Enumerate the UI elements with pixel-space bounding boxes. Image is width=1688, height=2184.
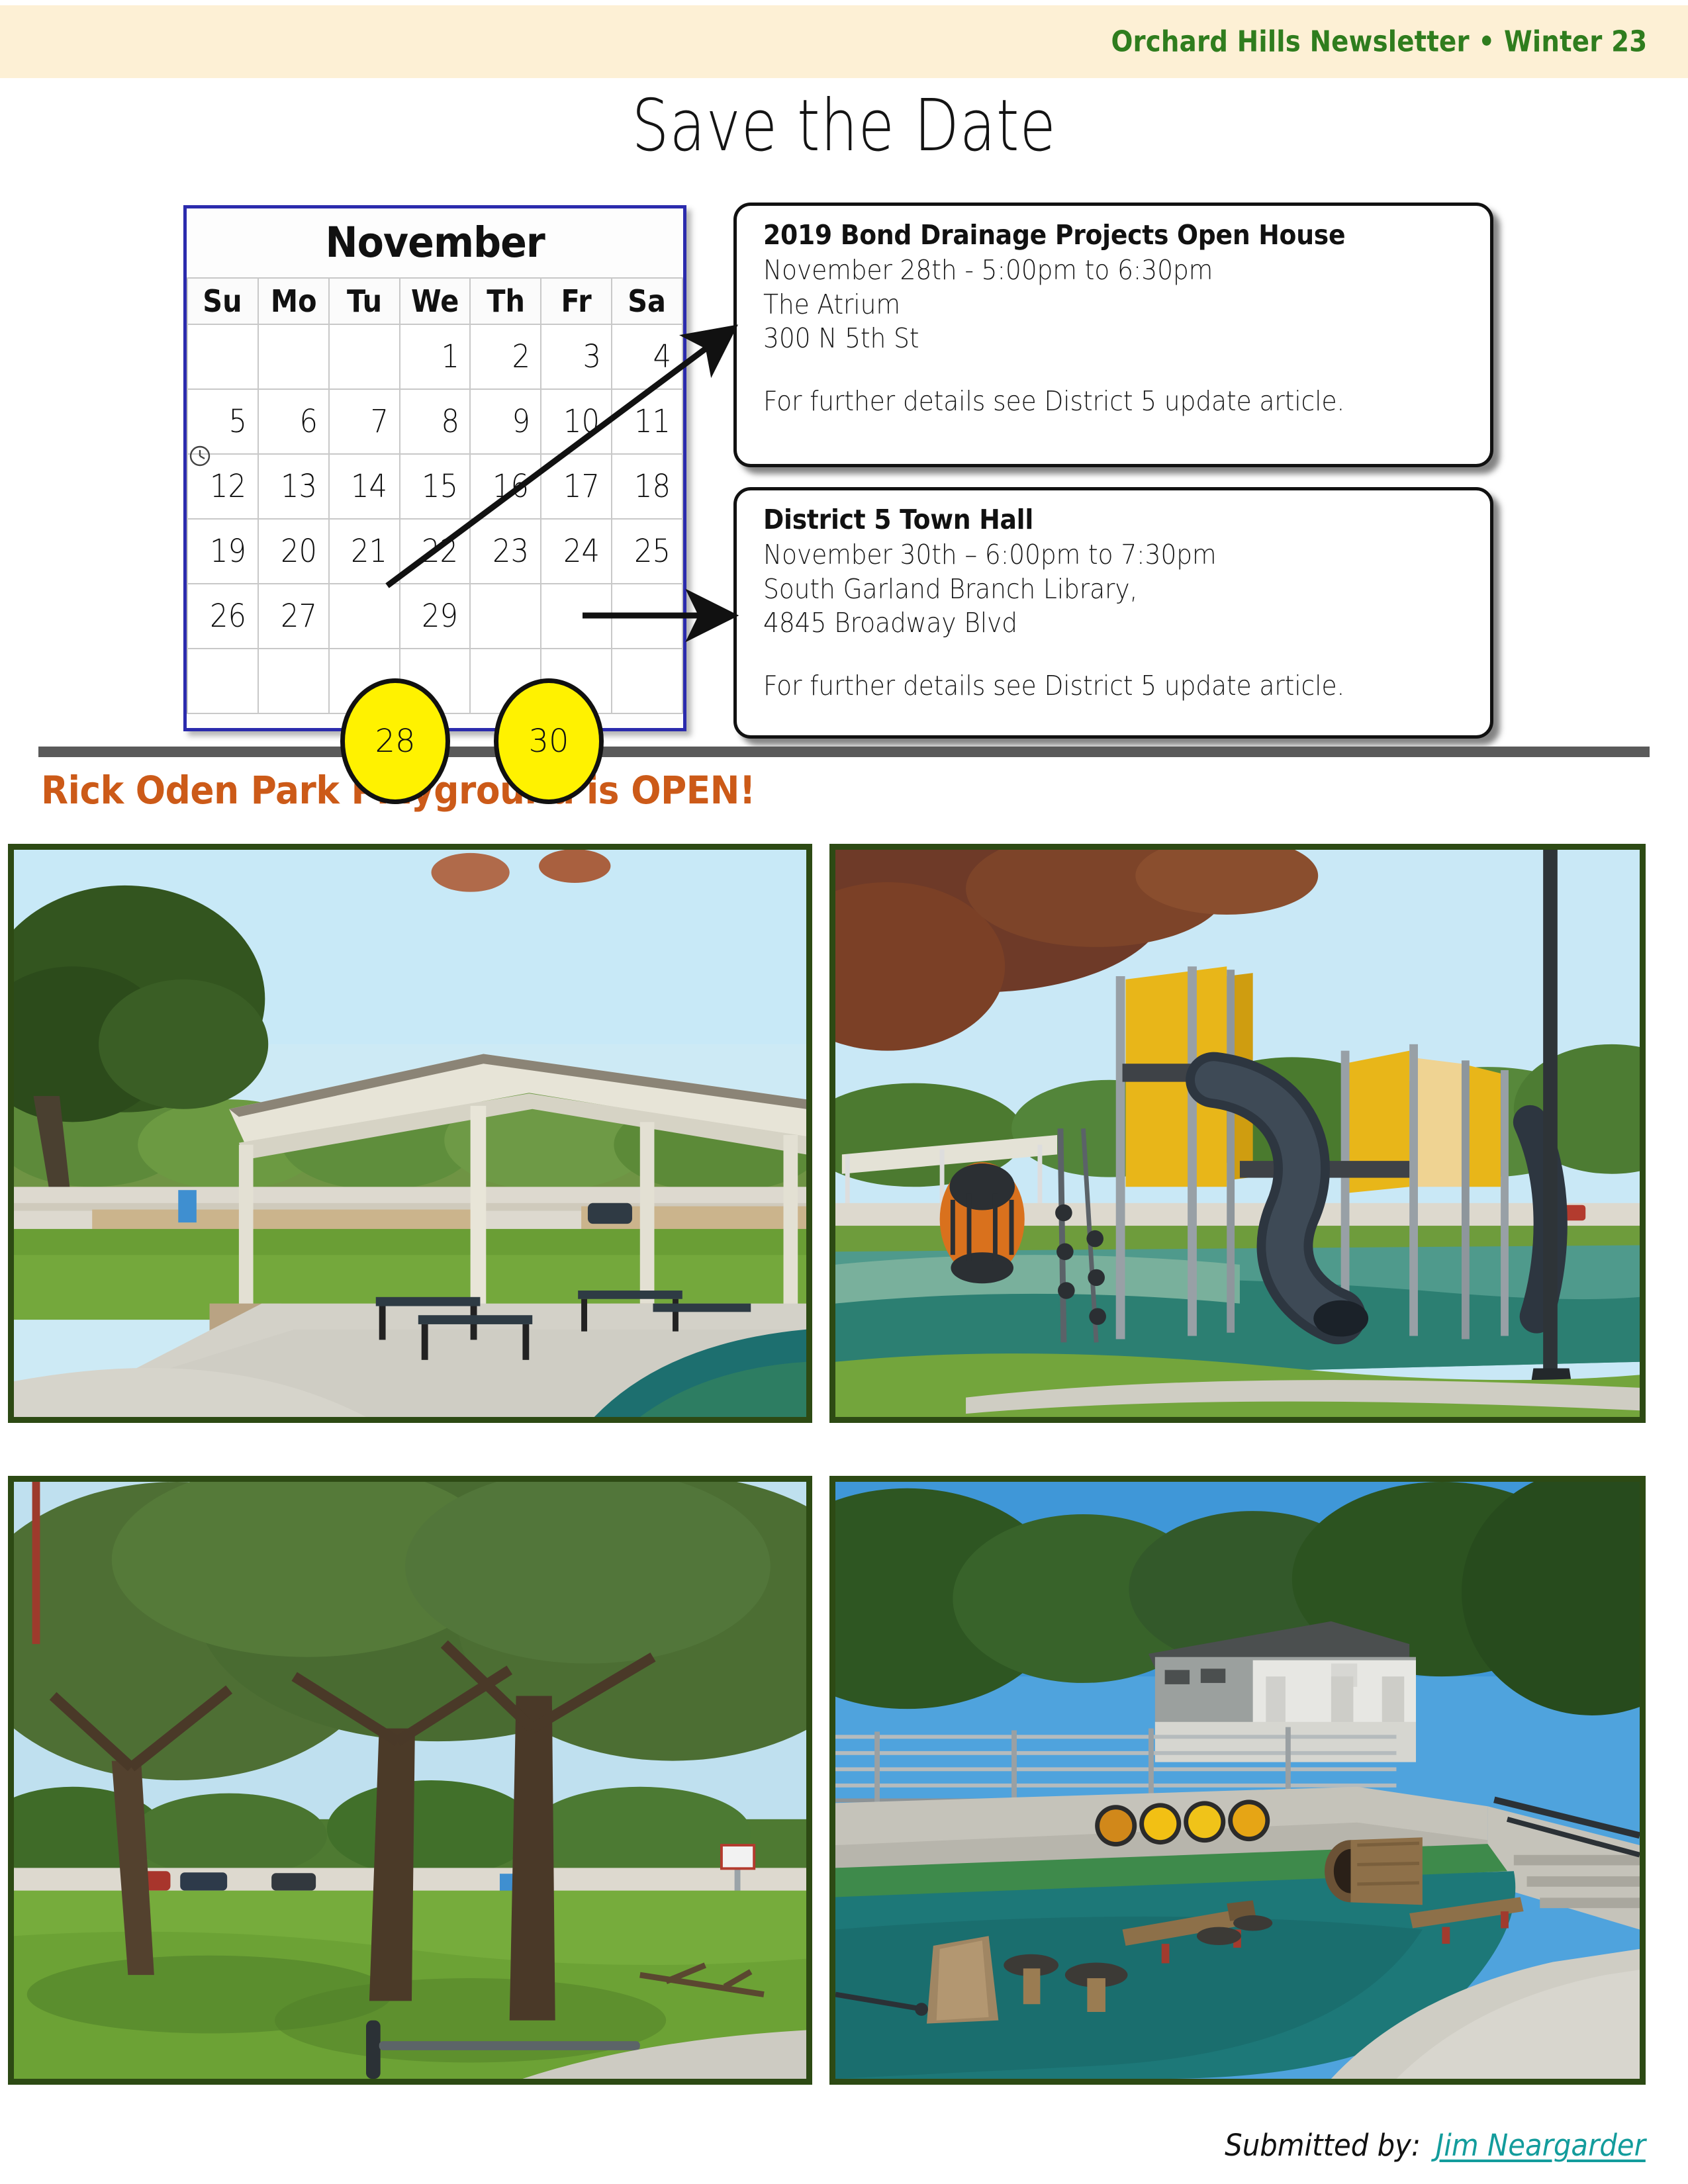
event-title: District 5 Town Hall [763,504,1468,535]
day-number: 18 [634,468,671,505]
event-datetime: November 30th – 6:00pm to 7:30pm [763,538,1468,572]
calendar-grid: Su Mo Tu We Th Fr Sa 1 2 3 4 5 6 [187,277,683,714]
calendar-day-cell [329,324,400,389]
calendar-day-cell: 7 [329,389,400,454]
submitted-by-prefix: Submitted by: [1225,2128,1421,2163]
spacer [763,641,1468,670]
day-number: 4 [653,338,671,375]
day-number: 12 [210,468,246,505]
calendar-day-cell: 21 [329,519,400,584]
event-note-text: For further details see District 5 updat… [763,670,1344,702]
calendar-month-text: November [325,208,544,277]
day-number: 25 [634,533,671,570]
calendar-month-label: November [187,208,683,277]
trees-photo [8,1476,812,2085]
day-number: 5 [229,403,247,440]
calendar-day-cell: 13 [258,454,329,519]
day-number: 9 [512,403,530,440]
event-note-text: For further details see District 5 updat… [763,385,1344,417]
day-number: 20 [281,533,317,570]
event-address-text: 4845 Broadway Blvd [763,606,1017,641]
calendar-day-cell: 1 [400,324,471,389]
calendar-day-cell [258,324,329,389]
event-title-text: 2019 Bond Drainage Projects Open House [763,219,1345,251]
natureplay-photo [829,1476,1646,2085]
event-card-open-house: 2019 Bond Drainage Projects Open House N… [733,203,1493,467]
event-venue-text: The Atrium [763,288,900,322]
day-number: 22 [422,533,458,570]
calendar-week-row: 26 27 29 [187,584,682,649]
weekday-label: Mo [270,283,316,319]
calendar-weekday-su: Su [187,278,258,324]
calendar-weekday-tu: Tu [329,278,400,324]
event-datetime-text: November 30th – 6:00pm to 7:30pm [763,538,1216,572]
day-number: 29 [422,598,458,635]
calendar-week-row: 1 2 3 4 [187,324,682,389]
calendar-day-cell: 20 [258,519,329,584]
weekday-label: Tu [347,283,382,319]
calendar-day-cell-highlighted-28 [329,584,400,649]
pavilion-photo [8,844,812,1423]
calendar-day-cell: 17 [541,454,612,519]
highlight-circle-day-30: 30 [494,678,604,804]
day-number: 24 [563,533,600,570]
day-number: 10 [563,403,600,440]
calendar-day-cell-highlighted-30 [470,584,541,649]
calendar-weekday-mo: Mo [258,278,329,324]
day-number: 3 [583,338,600,375]
event-venue-text: South Garland Branch Library, [763,572,1137,607]
weekday-label: Sa [628,283,667,319]
weekday-label: Th [487,283,525,319]
calendar-day-cell: 8 [400,389,471,454]
event-title-text: District 5 Town Hall [763,504,1033,535]
clock-icon [189,445,211,467]
calendar-day-cell: 9 [470,389,541,454]
calendar-day-cell: 18 [612,454,682,519]
day-number: 11 [634,403,671,440]
day-number: 23 [492,533,529,570]
calendar-day-cell: 11 [612,389,682,454]
event-note: For further details see District 5 updat… [763,385,1468,417]
calendar-day-cell [187,649,258,713]
weekday-label: We [411,283,459,319]
calendar-day-cell: 2 [470,324,541,389]
calendar-day-cell: 19 [187,519,258,584]
calendar-day-cell: 22 [400,519,471,584]
day-number: 17 [563,468,600,505]
calendar-day-cell [541,584,612,649]
day-number: 19 [210,533,246,570]
event-venue: The Atrium [763,288,1468,322]
day-number: 27 [281,598,317,635]
calendar-day-cell: 6 [258,389,329,454]
page-title-text: Save the Date [632,85,1056,167]
calendar-week-row: 5 6 7 8 9 10 11 [187,389,682,454]
calendar-day-cell: 24 [541,519,612,584]
november-calendar: November Su Mo Tu We Th Fr Sa 1 2 [183,205,686,731]
page-title: Save the Date [0,85,1688,167]
highlight-day-number: 30 [528,723,569,760]
calendar-weekday-th: Th [470,278,541,324]
event-title: 2019 Bond Drainage Projects Open House [763,219,1468,251]
playground-photo [829,844,1646,1423]
section-divider [38,747,1650,757]
day-number: 14 [352,468,388,505]
calendar-day-cell: 27 [258,584,329,649]
calendar-weekday-sa: Sa [612,278,682,324]
calendar-day-cell: 16 [470,454,541,519]
event-address: 300 N 5th St [763,322,1468,356]
calendar-day-cell: 15 [400,454,471,519]
spacer [763,356,1468,385]
newsletter-masthead: Orchard Hills Newsletter • Winter 23 [1111,25,1647,59]
day-number: 21 [352,533,388,570]
day-number: 6 [300,403,318,440]
submitted-by-line: Submitted by: Jim Neargarder [1217,2128,1654,2163]
calendar-week-row: 19 20 21 22 23 24 25 [187,519,682,584]
calendar-day-cell: 10 [541,389,612,454]
calendar-weekday-row: Su Mo Tu We Th Fr Sa [187,278,682,324]
event-address-text: 300 N 5th St [763,322,919,356]
day-number: 2 [512,338,530,375]
day-number: 13 [281,468,317,505]
event-card-town-hall: District 5 Town Hall November 30th – 6:0… [733,487,1493,739]
event-note: For further details see District 5 updat… [763,670,1468,702]
day-number: 15 [422,468,458,505]
calendar-day-cell: 25 [612,519,682,584]
calendar-day-cell: 23 [470,519,541,584]
calendar-weekday-we: We [400,278,471,324]
day-number: 16 [492,468,529,505]
calendar-day-cell: 3 [541,324,612,389]
event-address: 4845 Broadway Blvd [763,606,1468,641]
day-number: 7 [371,403,389,440]
day-number: 1 [441,338,459,375]
calendar-day-cell: 14 [329,454,400,519]
newsletter-header-band: Orchard Hills Newsletter • Winter 23 [0,5,1688,78]
calendar-day-cell: 29 [400,584,471,649]
highlight-day-number: 28 [375,723,415,760]
calendar-day-cell [187,324,258,389]
event-datetime: November 28th - 5:00pm to 6:30pm [763,253,1468,288]
weekday-label: Su [203,283,242,319]
calendar-day-cell: 26 [187,584,258,649]
weekday-label: Fr [561,283,592,319]
calendar-day-cell: 4 [612,324,682,389]
highlight-circle-day-28: 28 [340,678,450,804]
calendar-day-cell [612,649,682,713]
calendar-day-cell [258,649,329,713]
calendar-week-row: 12 13 14 15 16 17 18 [187,454,682,519]
author-link[interactable]: Jim Neargarder [1436,2128,1646,2163]
calendar-weekday-fr: Fr [541,278,612,324]
event-venue: South Garland Branch Library, [763,572,1468,607]
event-datetime-text: November 28th - 5:00pm to 6:30pm [763,253,1213,288]
day-number: 26 [210,598,246,635]
day-number: 8 [441,403,459,440]
calendar-day-cell [612,584,682,649]
